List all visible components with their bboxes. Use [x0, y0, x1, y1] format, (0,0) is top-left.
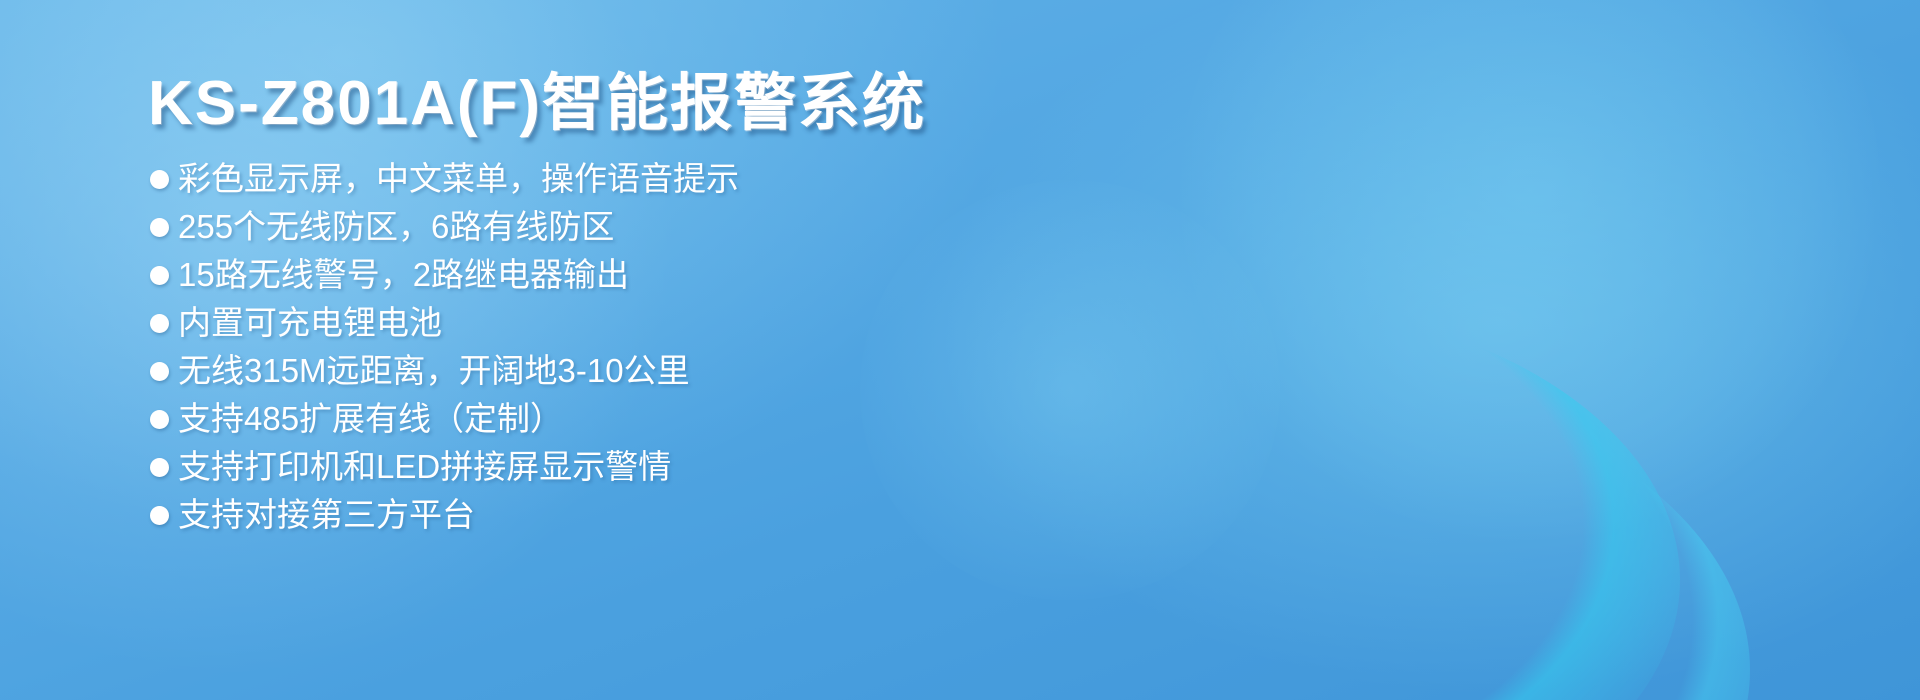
- list-item: 内置可充电锂电池: [150, 299, 739, 347]
- feature-label: 内置可充电锂电池: [178, 299, 442, 347]
- feature-label: 255个无线防区，6路有线防区: [178, 203, 614, 251]
- page-title: KS-Z801A(F)智能报警系统: [148, 52, 926, 142]
- list-item: 支持打印机和LED拼接屏显示警情: [150, 443, 739, 491]
- filled-circle-bullet-icon: [150, 410, 169, 429]
- feature-label: 支持485扩展有线（定制）: [178, 395, 563, 443]
- list-item: 彩色显示屏，中文菜单，操作语音提示: [150, 155, 739, 203]
- feature-label: 彩色显示屏，中文菜单，操作语音提示: [178, 155, 739, 203]
- product-banner: KS-Z801A(F)智能报警系统 彩色显示屏，中文菜单，操作语音提示 255个…: [0, 0, 1920, 700]
- feature-label: 支持对接第三方平台: [178, 491, 475, 539]
- filled-circle-bullet-icon: [150, 362, 169, 381]
- list-item: 15路无线警号，2路继电器输出: [150, 251, 739, 299]
- text-content: KS-Z801A(F)智能报警系统 彩色显示屏，中文菜单，操作语音提示 255个…: [0, 0, 960, 700]
- feature-label: 支持打印机和LED拼接屏显示警情: [178, 443, 671, 491]
- filled-circle-bullet-icon: [150, 314, 169, 333]
- filled-circle-bullet-icon: [150, 506, 169, 525]
- list-item: 支持对接第三方平台: [150, 491, 739, 539]
- filled-circle-bullet-icon: [150, 170, 169, 189]
- filled-circle-bullet-icon: [150, 458, 169, 477]
- list-item: 支持485扩展有线（定制）: [150, 395, 739, 443]
- list-item: 255个无线防区，6路有线防区: [150, 203, 739, 251]
- feature-label: 无线315M远距离，开阔地3-10公里: [178, 347, 690, 395]
- list-item: 无线315M远距离，开阔地3-10公里: [150, 347, 739, 395]
- feature-list: 彩色显示屏，中文菜单，操作语音提示 255个无线防区，6路有线防区 15路无线警…: [150, 155, 739, 539]
- filled-circle-bullet-icon: [150, 266, 169, 285]
- filled-circle-bullet-icon: [150, 218, 169, 237]
- alarm-control-panel-image: ▼ ▮▮ 22:27 04-01-01 撤防状态 电源 布防 报警 故障 火警 …: [960, 0, 1920, 700]
- feature-label: 15路无线警号，2路继电器输出: [178, 251, 629, 299]
